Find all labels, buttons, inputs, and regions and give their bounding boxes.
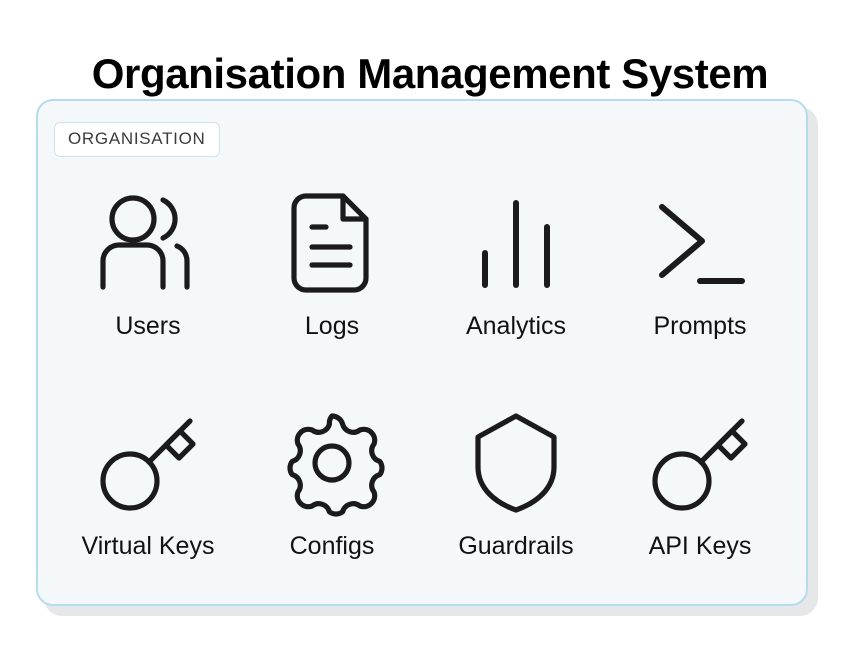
- tile-configs[interactable]: Configs: [240, 407, 424, 603]
- terminal-prompt-icon: [644, 187, 756, 299]
- page-root: Organisation Management System ORGANISAT…: [0, 0, 860, 661]
- tile-label: API Keys: [649, 531, 752, 561]
- tile-label: Users: [115, 311, 180, 341]
- bar-chart-icon: [460, 187, 572, 299]
- tile-label: Prompts: [653, 311, 746, 341]
- feature-tile-grid: Users Logs: [56, 187, 792, 603]
- tile-guardrails[interactable]: Guardrails: [424, 407, 608, 603]
- organisation-badge: ORGANISATION: [54, 122, 220, 157]
- tile-label: Virtual Keys: [82, 531, 215, 561]
- document-icon: [276, 187, 388, 299]
- page-title: Organisation Management System: [0, 49, 860, 99]
- tile-label: Logs: [305, 311, 359, 341]
- tile-analytics[interactable]: Analytics: [424, 187, 608, 383]
- gear-icon: [276, 407, 388, 519]
- shield-icon: [460, 407, 572, 519]
- tile-virtual-keys[interactable]: Virtual Keys: [56, 407, 240, 603]
- key-icon: [92, 407, 204, 519]
- tile-logs[interactable]: Logs: [240, 187, 424, 383]
- organisation-card: ORGANISATION Users: [36, 99, 808, 606]
- tile-api-keys[interactable]: API Keys: [608, 407, 792, 603]
- tile-label: Configs: [290, 531, 375, 561]
- tile-prompts[interactable]: Prompts: [608, 187, 792, 383]
- tile-users[interactable]: Users: [56, 187, 240, 383]
- tile-label: Guardrails: [458, 531, 573, 561]
- key-icon: [644, 407, 756, 519]
- tile-label: Analytics: [466, 311, 566, 341]
- users-icon: [92, 187, 204, 299]
